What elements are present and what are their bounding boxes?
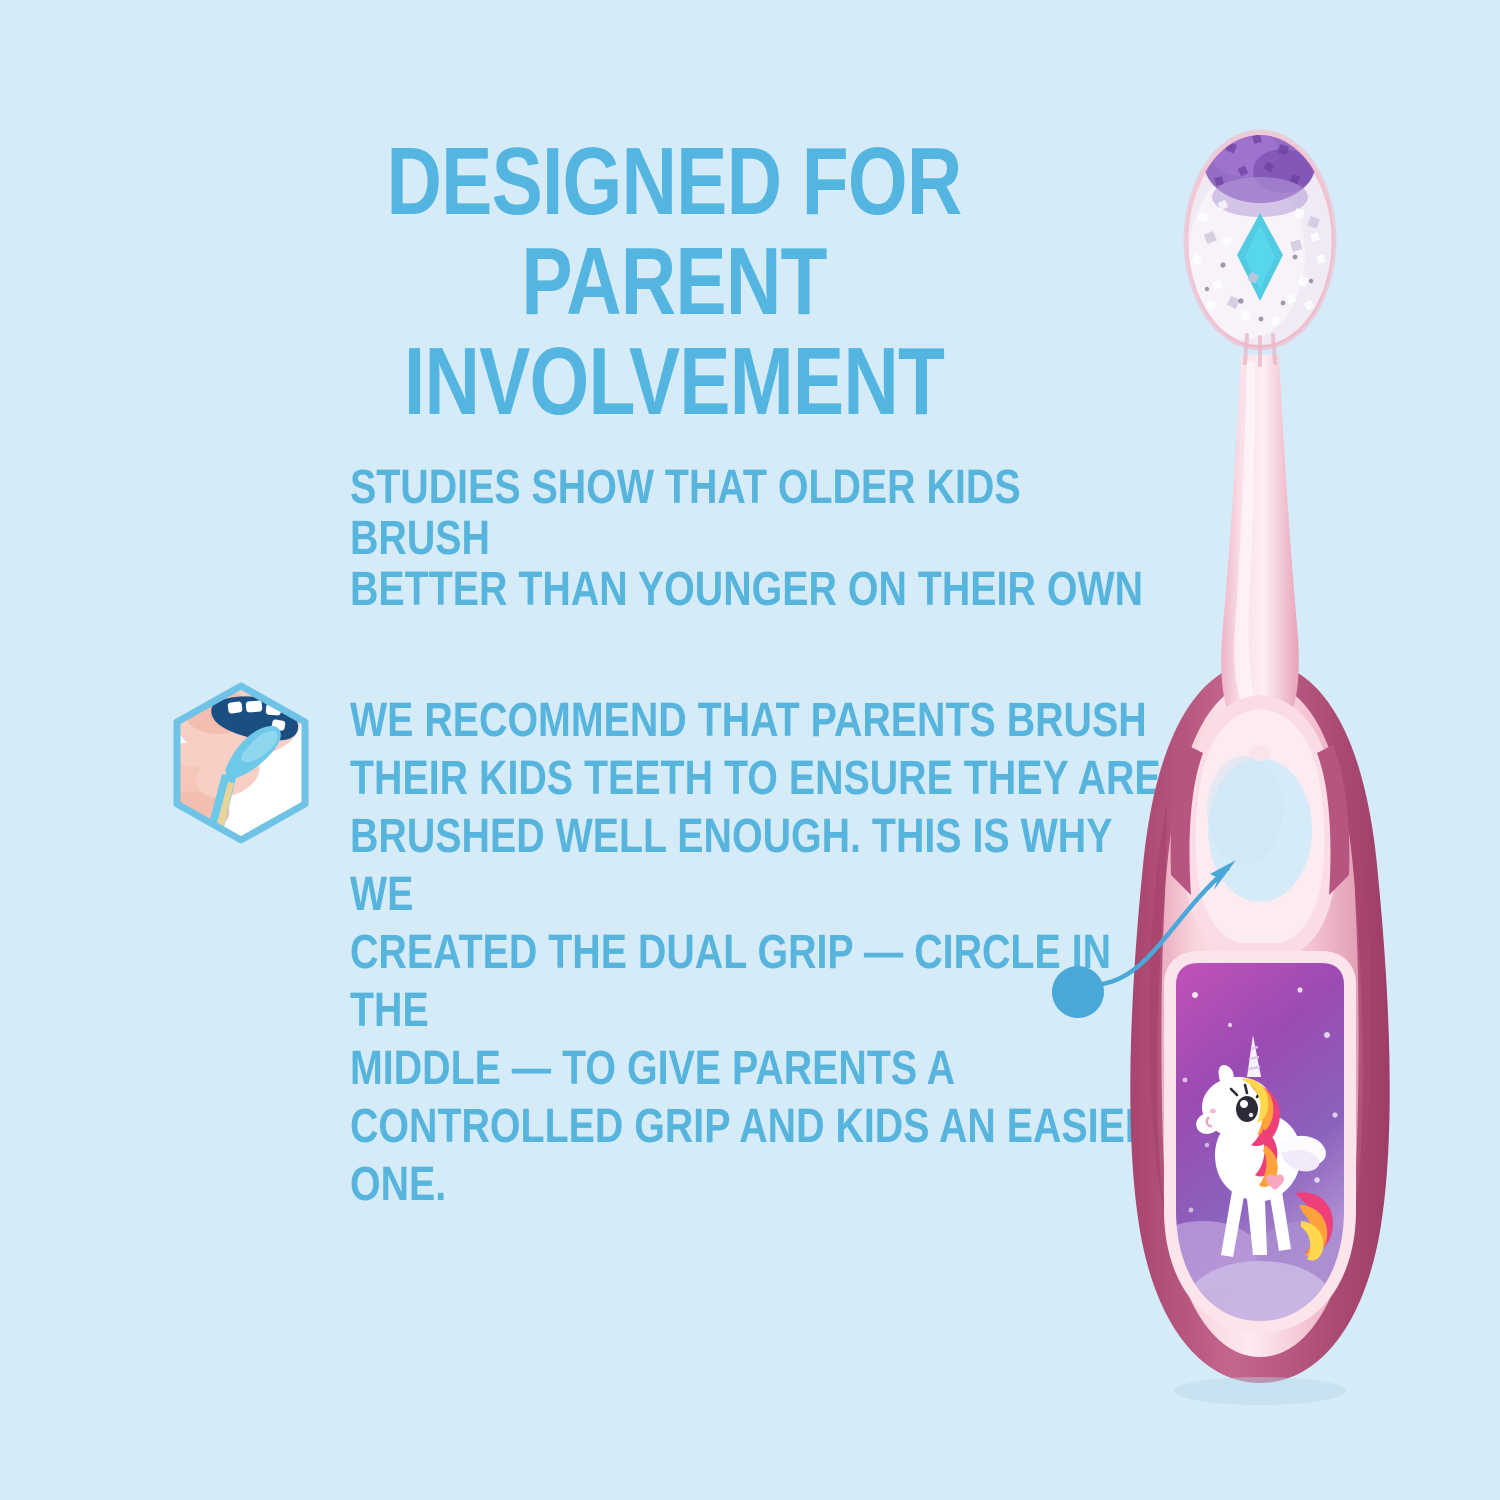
callout-arrowhead [1210, 860, 1236, 890]
infographic-canvas: DESIGNED FOR PARENT INVOLVEMENT STUDIES … [0, 0, 1500, 1500]
callout-line [1102, 868, 1228, 984]
hand-brushing-teeth-icon [166, 682, 316, 844]
bristles [1188, 123, 1332, 347]
page-title: DESIGNED FOR PARENT INVOLVEMENT [330, 132, 1018, 432]
callout-dot [1052, 966, 1104, 1018]
subheading-text: STUDIES SHOW THAT OLDER KIDS BRUSH BETTE… [350, 462, 1170, 615]
kids-unicorn-toothbrush [1095, 105, 1425, 1405]
product-shadow [1174, 1377, 1346, 1405]
dual-grip-callout [1040, 770, 1300, 1030]
brush-neck [1221, 355, 1299, 741]
grip-nub [1250, 745, 1270, 761]
